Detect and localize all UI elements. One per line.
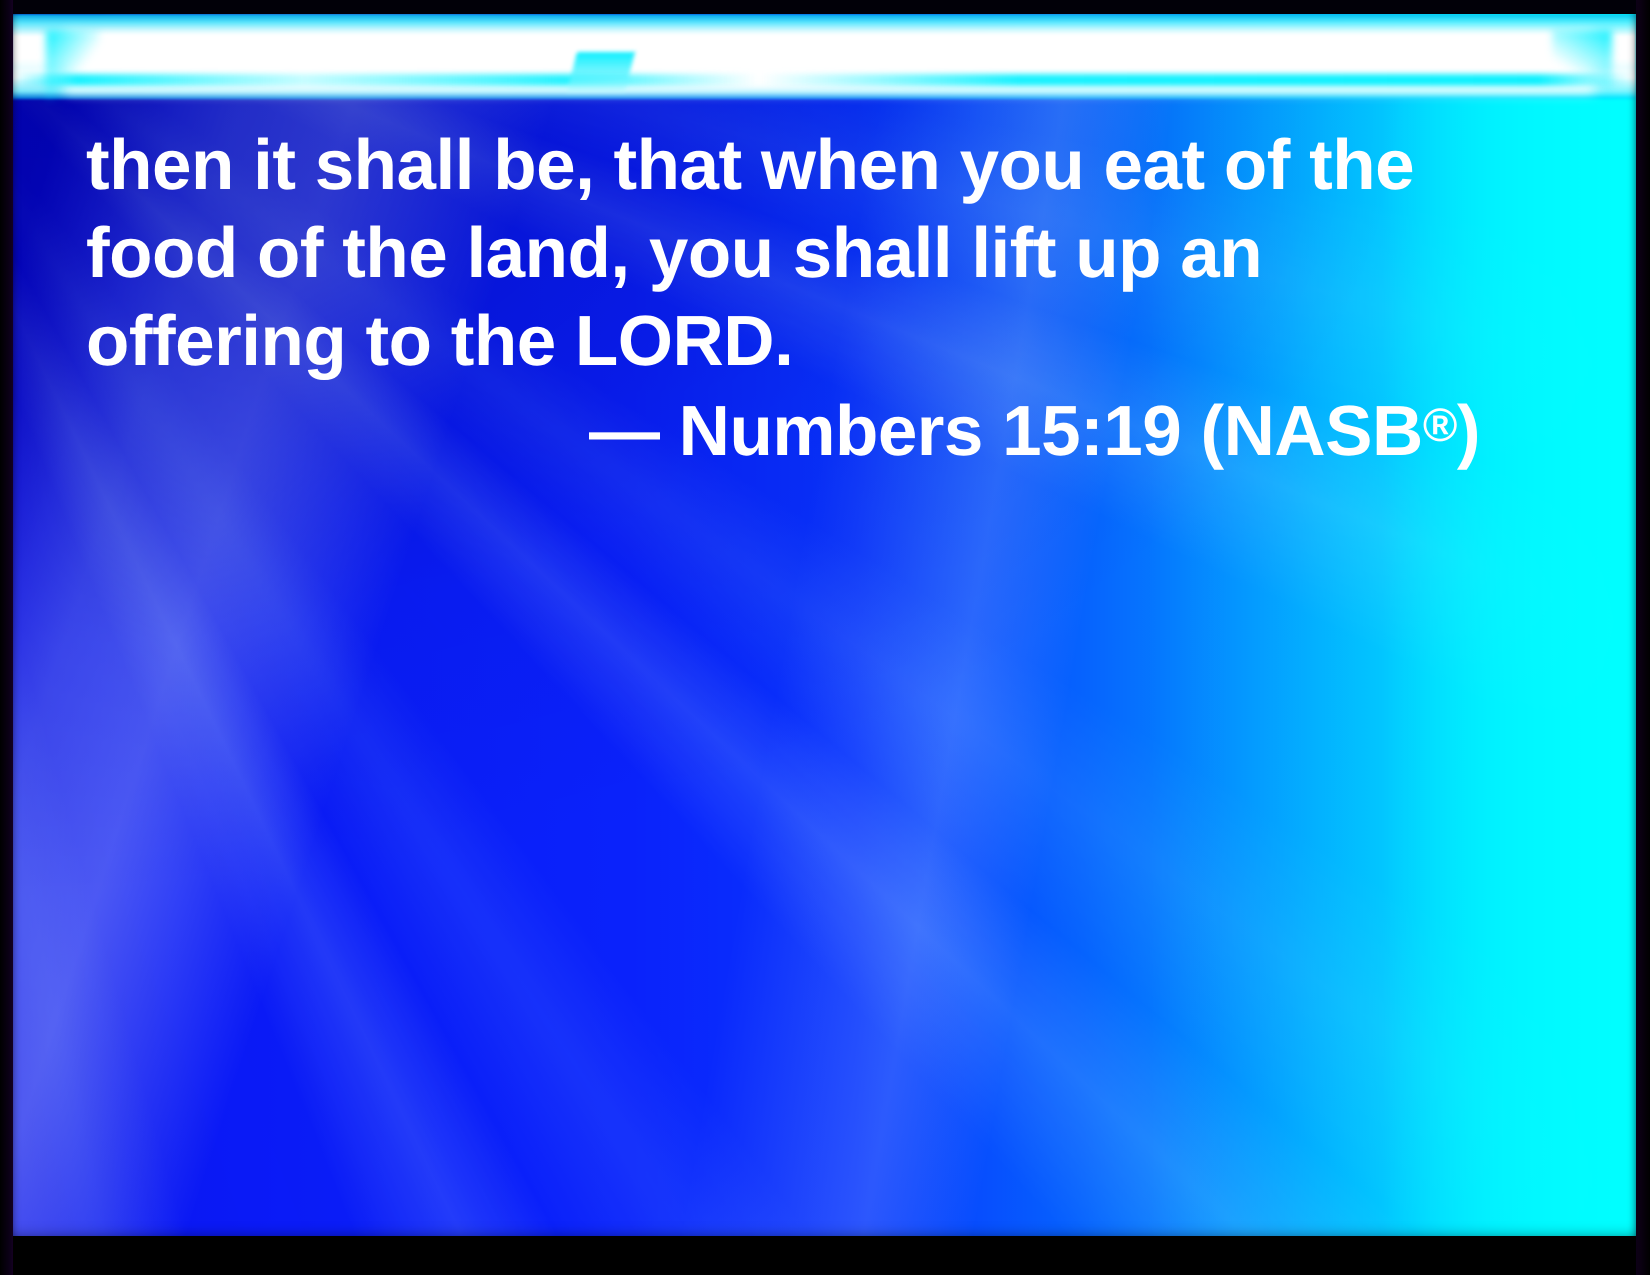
citation-translation-open: (NASB [1200, 392, 1422, 471]
citation-spacer-3 [1181, 392, 1200, 471]
bible-verse-slide: then it shall be, that when you eat of t… [0, 0, 1650, 1275]
citation-spacer [659, 392, 678, 471]
verse-line-2: food of the land, you shall lift up an [86, 210, 1506, 298]
top-highlight-cyan-edge [12, 74, 1636, 86]
top-highlight-left-bevel [46, 30, 100, 100]
verse-text-block: then it shall be, that when you eat of t… [86, 122, 1506, 476]
citation-dash: — [589, 392, 660, 471]
top-highlight-right-bevel [1552, 30, 1612, 102]
verse-line-3: offering to the LORD. [86, 298, 1506, 386]
registered-trademark-icon: ® [1423, 399, 1457, 451]
verse-citation: — Numbers 15:19 (NASB®) [86, 388, 1506, 476]
citation-spacer-2 [983, 392, 1002, 471]
top-highlight-notch [567, 52, 635, 92]
slide-frame-left-edge [0, 0, 13, 1275]
verse-line-1: then it shall be, that when you eat of t… [86, 122, 1506, 210]
citation-book: Numbers [679, 392, 983, 471]
slide-frame-top-edge [0, 0, 1650, 14]
slide-frame-bottom-edge [0, 1236, 1650, 1275]
citation-translation-close: ) [1457, 392, 1480, 471]
citation-chapter-verse: 15:19 [1002, 392, 1181, 471]
slide-frame-right-edge [1636, 0, 1650, 1275]
